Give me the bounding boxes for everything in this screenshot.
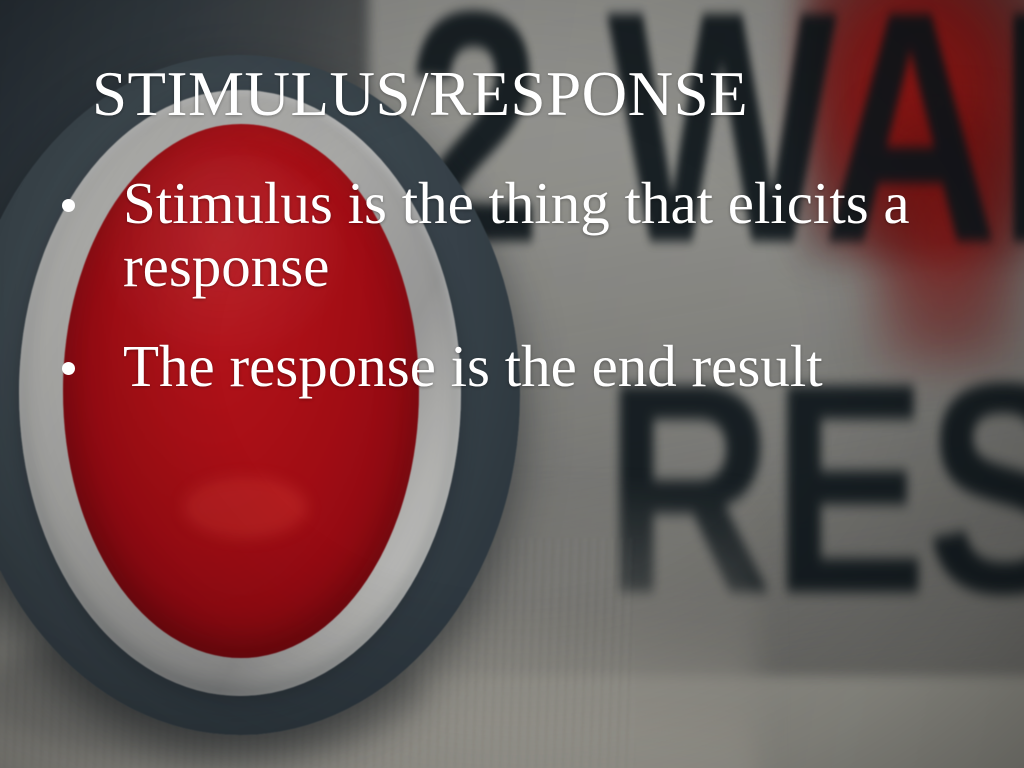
bullet-text: Stimulus is the thing that elicits a res… (123, 172, 913, 297)
bullet-dot-icon (62, 199, 75, 212)
bullet-item: The response is the end result (50, 335, 950, 398)
slide-content: STIMULUS/RESPONSE Stimulus is the thing … (0, 0, 1024, 768)
bullet-text: The response is the end result (123, 335, 913, 398)
bullet-item: Stimulus is the thing that elicits a res… (50, 172, 950, 297)
presentation-slide: 2 WAIT RESP STIMULUS/RESPONSE Stimulus i… (0, 0, 1024, 768)
bullet-list: Stimulus is the thing that elicits a res… (50, 172, 950, 436)
slide-title: STIMULUS/RESPONSE (92, 60, 972, 129)
bullet-dot-icon (62, 362, 75, 375)
